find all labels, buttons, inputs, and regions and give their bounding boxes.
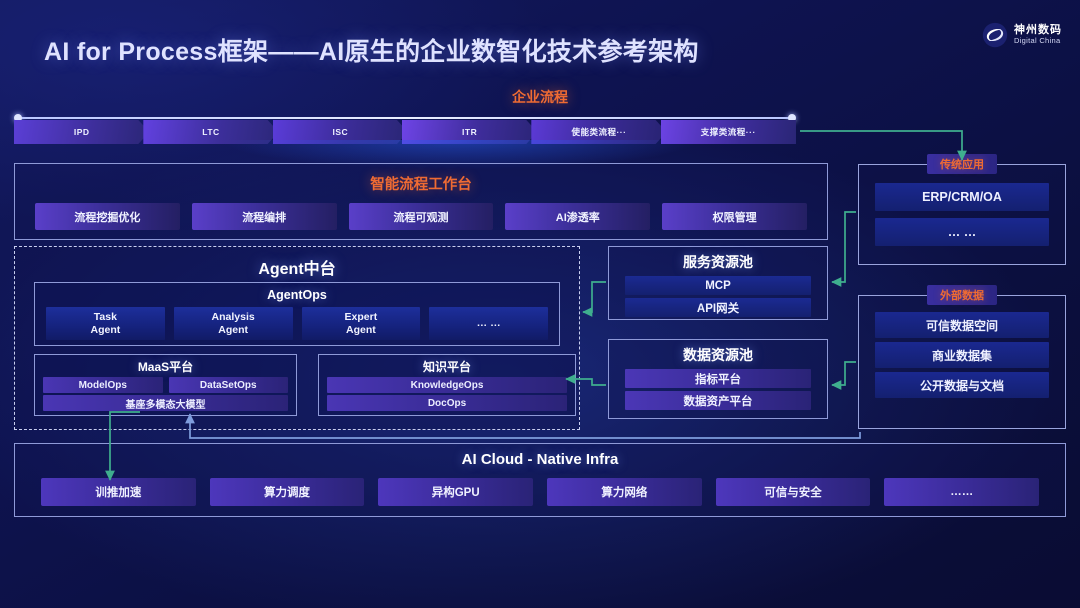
maas-platform-panel: MaaS平台 ModelOps DataSetOps 基座多模态大模型 xyxy=(34,354,297,416)
knowledge-title: 知识平台 xyxy=(319,358,575,375)
agent-cell-line1: … … xyxy=(477,317,501,329)
logo-text-en: Digital China xyxy=(1014,37,1062,45)
process-stage-itr[interactable]: ITR xyxy=(402,120,537,144)
infra-item-heterogeneous-gpu[interactable]: 异构GPU xyxy=(378,478,533,506)
data-pool-title: 数据资源池 xyxy=(609,345,827,365)
data-pool-item-asset[interactable]: 数据资产平台 xyxy=(625,391,811,410)
legacy-app-item-more[interactable]: … … xyxy=(875,218,1049,246)
service-pool-item-list: MCP API网关 xyxy=(609,272,827,317)
legacy-apps-badge: 传统应用 xyxy=(927,154,997,174)
data-pool-item-metrics[interactable]: 指标平台 xyxy=(625,369,811,388)
infra-item-more[interactable]: …… xyxy=(884,478,1039,506)
brand-logo: 神州数码 Digital China xyxy=(982,22,1062,48)
service-resource-pool-panel: 服务资源池 MCP API网关 xyxy=(608,246,828,320)
infra-item-train-inference-accel[interactable]: 训推加速 xyxy=(41,478,196,506)
legacy-applications-panel: 传统应用 ERP/CRM/OA … … xyxy=(858,164,1066,265)
workbench-item-list: 流程挖掘优化 流程编排 流程可观测 AI渗透率 权限管理 xyxy=(15,194,827,230)
agent-cell-line2: Agent xyxy=(218,324,248,336)
process-stage-ltc[interactable]: LTC xyxy=(143,120,278,144)
knowledge-item-docops[interactable]: DocOps xyxy=(327,395,567,411)
external-data-panel: 外部数据 可信数据空间 商业数据集 公开数据与文档 xyxy=(858,295,1066,429)
process-stage-label: 使能类流程··· xyxy=(571,126,626,138)
infra-title: AI Cloud - Native Infra xyxy=(15,451,1065,468)
maas-row-2: 基座多模态大模型 xyxy=(35,393,296,411)
process-stage-ipd[interactable]: IPD xyxy=(14,120,149,144)
knowledge-row-1: KnowledgeOps xyxy=(319,375,575,393)
agent-cell-analysis[interactable]: Analysis Agent xyxy=(174,307,293,340)
maas-row-1: ModelOps DataSetOps xyxy=(35,375,296,393)
agent-cell-task[interactable]: Task Agent xyxy=(46,307,165,340)
maas-title: MaaS平台 xyxy=(35,358,296,375)
workbench-item-permission[interactable]: 权限管理 xyxy=(662,203,807,230)
external-data-item-public-docs[interactable]: 公开数据与文档 xyxy=(875,372,1049,398)
agentops-title: AgentOps xyxy=(35,288,559,302)
agentops-cell-list: Task Agent Analysis Agent Expert Agent …… xyxy=(35,302,559,340)
agent-hub-panel: Agent中台 AgentOps Task Agent Analysis Age… xyxy=(14,246,580,430)
agent-cell-line2: Agent xyxy=(91,324,121,336)
wire-legacy-to-service-pool xyxy=(832,212,856,282)
data-pool-item-list: 指标平台 数据资产平台 xyxy=(609,365,827,410)
page-title: AI for Process框架——AI原生的企业数智化技术参考架构 xyxy=(44,32,699,68)
agent-cell-expert[interactable]: Expert Agent xyxy=(302,307,421,340)
legacy-apps-item-list: ERP/CRM/OA … … xyxy=(859,165,1065,246)
process-stage-label: ITR xyxy=(462,127,477,137)
process-stage-list: IPD LTC ISC ITR 使能类流程··· 支撑类流程··· xyxy=(14,120,796,144)
workbench-item-process-mining[interactable]: 流程挖掘优化 xyxy=(35,203,180,230)
maas-item-modelops[interactable]: ModelOps xyxy=(43,377,163,393)
process-stage-label: LTC xyxy=(202,127,219,137)
process-stage-label: IPD xyxy=(74,127,90,137)
knowledge-platform-panel: 知识平台 KnowledgeOps DocOps xyxy=(318,354,576,416)
workbench-item-orchestration[interactable]: 流程编排 xyxy=(192,203,337,230)
slide-canvas: AI for Process框架——AI原生的企业数智化技术参考架构 神州数码 … xyxy=(0,0,1080,608)
workbench-item-ai-penetration[interactable]: AI渗透率 xyxy=(505,203,650,230)
infra-item-compute-scheduling[interactable]: 算力调度 xyxy=(210,478,365,506)
ai-cloud-native-infra-panel: AI Cloud - Native Infra 训推加速 算力调度 异构GPU … xyxy=(14,443,1066,517)
wire-service-pool-to-agent-hub xyxy=(583,282,606,312)
service-pool-title: 服务资源池 xyxy=(609,252,827,272)
maas-item-foundation-model[interactable]: 基座多模态大模型 xyxy=(43,395,288,411)
process-rail-line xyxy=(20,117,790,119)
agent-cell-line1: Analysis xyxy=(212,311,255,323)
external-data-item-trusted-space[interactable]: 可信数据空间 xyxy=(875,312,1049,338)
agent-hub-title: Agent中台 xyxy=(15,255,579,279)
process-stage-label: 支撑类流程··· xyxy=(701,126,756,138)
knowledge-item-knowledgeops[interactable]: KnowledgeOps xyxy=(327,377,567,393)
wire-external-to-data-pool xyxy=(832,362,856,385)
agent-cell-more[interactable]: … … xyxy=(429,307,548,340)
agentops-panel: AgentOps Task Agent Analysis Agent Exper… xyxy=(34,282,560,346)
infra-item-compute-network[interactable]: 算力网络 xyxy=(547,478,702,506)
digital-china-swirl-icon xyxy=(982,22,1008,48)
agent-cell-line1: Task xyxy=(94,311,117,323)
process-stage-isc[interactable]: ISC xyxy=(273,120,408,144)
legacy-app-item-erp[interactable]: ERP/CRM/OA xyxy=(875,183,1049,211)
service-pool-item-api-gateway[interactable]: API网关 xyxy=(625,298,811,317)
external-data-item-list: 可信数据空间 商业数据集 公开数据与文档 xyxy=(859,296,1065,398)
smart-process-workbench-panel: 智能流程工作台 流程挖掘优化 流程编排 流程可观测 AI渗透率 权限管理 xyxy=(14,163,828,240)
infra-item-list: 训推加速 算力调度 异构GPU 算力网络 可信与安全 …… xyxy=(15,468,1065,506)
process-section-label: 企业流程 xyxy=(0,87,1080,107)
data-resource-pool-panel: 数据资源池 指标平台 数据资产平台 xyxy=(608,339,828,419)
workbench-title: 智能流程工作台 xyxy=(15,173,827,194)
external-data-item-commercial[interactable]: 商业数据集 xyxy=(875,342,1049,368)
agent-cell-line2: Agent xyxy=(346,324,376,336)
knowledge-row-2: DocOps xyxy=(319,393,575,411)
infra-item-trust-security[interactable]: 可信与安全 xyxy=(716,478,871,506)
agent-cell-line1: Expert xyxy=(345,311,378,323)
service-pool-item-mcp[interactable]: MCP xyxy=(625,276,811,295)
workbench-item-observability[interactable]: 流程可观测 xyxy=(349,203,494,230)
external-data-badge: 外部数据 xyxy=(927,285,997,305)
process-stage-enabling[interactable]: 使能类流程··· xyxy=(531,120,666,144)
maas-item-datasetops[interactable]: DataSetOps xyxy=(169,377,289,393)
process-stage-label: ISC xyxy=(332,127,348,137)
process-stage-supporting[interactable]: 支撑类流程··· xyxy=(661,120,796,144)
